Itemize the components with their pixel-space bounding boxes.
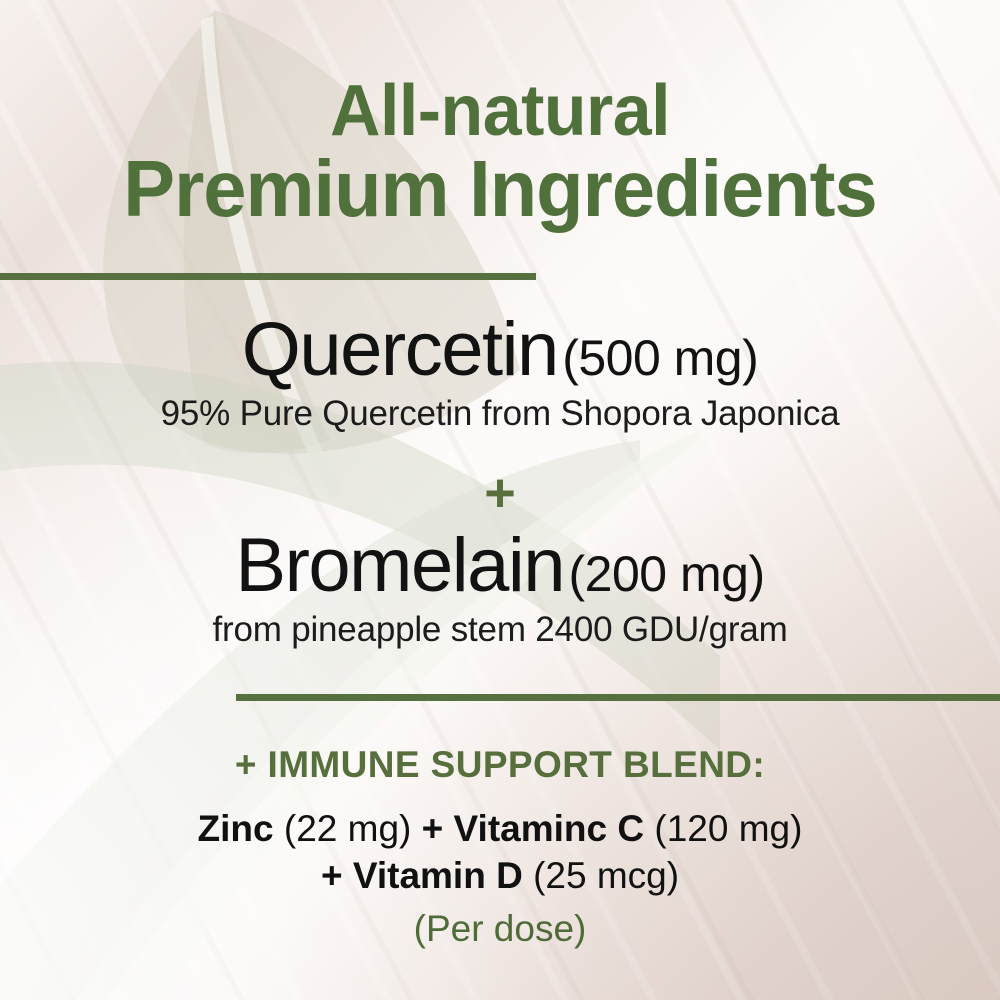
blend-line-1: Zinc (22 mg) + Vitaminc C (120 mg) — [0, 806, 1000, 853]
blend-title: + IMMUNE SUPPORT BLEND: — [0, 744, 1000, 786]
ingredient-subtitle: 95% Pure Quercetin from Shopora Japonica — [0, 394, 1000, 434]
blend-item-vitaminc-name: Vitaminc C — [454, 808, 645, 849]
blend-item-zinc-dose: (22 mg) — [284, 808, 411, 849]
ingredient-quercetin: Quercetin (500 mg) 95% Pure Quercetin fr… — [0, 312, 1000, 434]
ingredient-dose: (200 mg) — [569, 546, 765, 602]
ingredient-name: Quercetin — [242, 307, 558, 392]
blend-ingredient-list: Zinc (22 mg) + Vitaminc C (120 mg) + Vit… — [0, 806, 1000, 899]
blend-item-vitaminc-dose: (120 mg) — [654, 808, 802, 849]
ingredient-subtitle: from pineapple stem 2400 GDU/gram — [0, 610, 1000, 650]
ingredient-bromelain: Bromelain (200 mg) from pineapple stem 2… — [0, 528, 1000, 650]
per-dose-footnote: (Per dose) — [0, 908, 1000, 950]
ingredient-headline: Quercetin (500 mg) — [0, 312, 1000, 388]
title-line-1: All-natural — [15, 74, 985, 148]
ingredient-dose: (500 mg) — [562, 330, 758, 386]
blend-joiner-2: + — [321, 855, 343, 896]
ingredient-headline: Bromelain (200 mg) — [0, 528, 1000, 604]
blend-item-vitamind-dose: (25 mcg) — [533, 855, 679, 896]
plus-separator-icon: + — [0, 466, 1000, 520]
title-line-2: Premium Ingredients — [15, 148, 985, 230]
page-title: All-natural Premium Ingredients — [15, 74, 985, 231]
blend-line-2: + Vitamin D (25 mcg) — [0, 853, 1000, 900]
blend-item-zinc-name: Zinc — [198, 808, 274, 849]
blend-item-vitamind-name: Vitamin D — [353, 855, 523, 896]
blend-joiner-1: + — [422, 808, 444, 849]
ingredient-name: Bromelain — [235, 523, 564, 608]
ingredient-poster: All-natural Premium Ingredients Querceti… — [0, 0, 1000, 1000]
